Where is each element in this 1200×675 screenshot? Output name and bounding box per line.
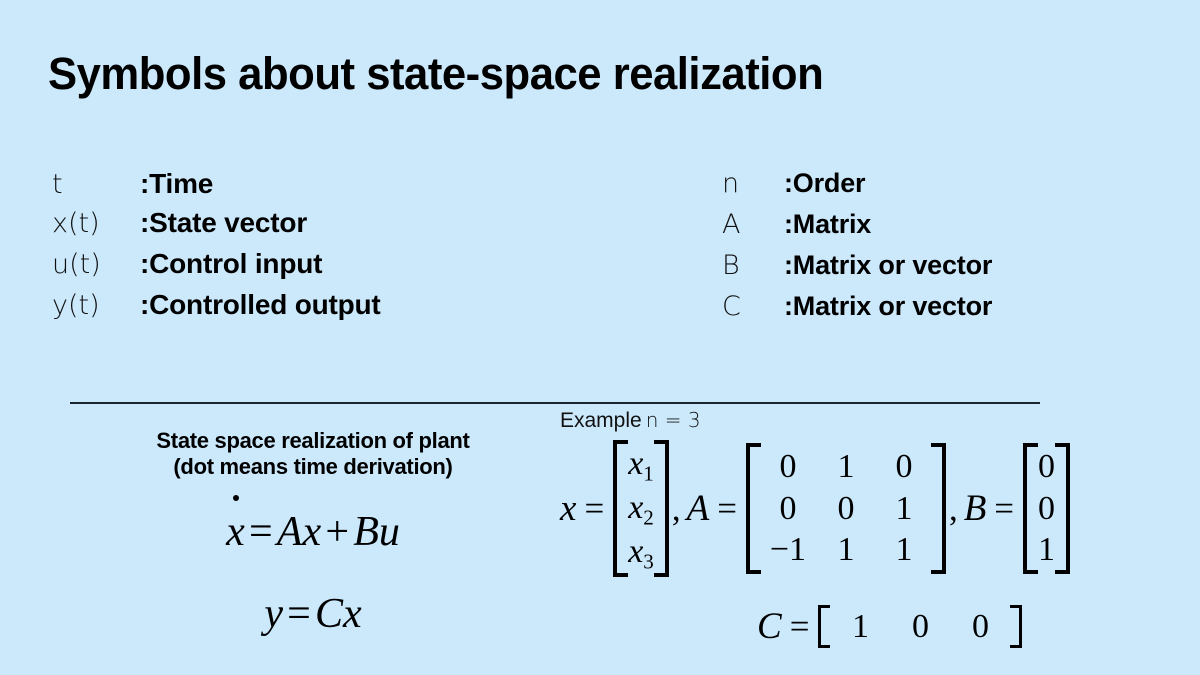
symbol-B-description: :Matrix or vector: [784, 250, 992, 281]
A-matrix-cell: −1: [759, 529, 817, 570]
symbol-u-description: :Control input: [140, 248, 322, 280]
symbol-y-description: :Controlled output: [140, 289, 381, 321]
x-dot-variable: x: [226, 508, 245, 556]
plant-caption-line1: State space realization of plant: [58, 428, 568, 454]
state-equation-term2: Bu: [353, 509, 400, 555]
A-matrix-cell: 0: [759, 446, 817, 487]
A-matrix-equals: =: [711, 489, 745, 529]
C-matrix-cell: 0: [890, 606, 950, 647]
C-matrix-row: C = 1 0 0: [755, 605, 1023, 648]
B-matrix-equals: =: [988, 489, 1022, 529]
A-matrix-row: 0 0 1: [759, 488, 933, 529]
A-matrix-cell: 1: [817, 446, 875, 487]
legend-row-x: x(t) :State vector: [52, 207, 572, 239]
C-matrix-name: C: [755, 605, 784, 648]
A-matrix-cell: 0: [759, 488, 817, 529]
legend-row-u: u(t) :Control input: [52, 248, 572, 280]
legend-row-A: A :Matrix: [722, 209, 1192, 240]
symbol-A: A: [722, 209, 784, 240]
C-matrix: 1 0 0: [818, 605, 1022, 648]
C-matrix-row-cells: 1 0 0: [830, 606, 1010, 647]
symbol-B: B: [722, 250, 784, 281]
B-matrix-name: B: [962, 487, 989, 530]
symbol-C: C: [722, 291, 784, 322]
C-matrix-equals: =: [784, 607, 818, 647]
plant-caption-line2: (dot means time derivation): [58, 454, 568, 480]
state-equation: x=Ax+Bu: [58, 508, 568, 556]
A-matrix-cell: 1: [817, 529, 875, 570]
matrix-separator-2: ,: [947, 489, 962, 529]
C-matrix-cell: 1: [830, 606, 890, 647]
B-matrix-cell: 1: [1036, 529, 1057, 570]
A-matrix-row: −1 1 1: [759, 529, 933, 570]
state-equation-lhs: x: [226, 509, 245, 555]
page-title: Symbols about state-space realization: [48, 48, 823, 100]
symbol-t-description: :Time: [140, 168, 213, 200]
legend-row-C: C :Matrix or vector: [722, 291, 1192, 322]
symbol-legend: t :Time x(t) :State vector u(t) :Control…: [0, 168, 1200, 378]
state-equation-term1: Ax: [277, 509, 321, 555]
B-matrix-cell: 0: [1036, 446, 1057, 487]
state-equation-equals: =: [245, 509, 277, 555]
A-matrix-cell: 1: [875, 529, 933, 570]
symbol-x-description: :State vector: [140, 207, 307, 239]
C-matrix-cell: 0: [950, 606, 1010, 647]
B-matrix: 0 0 1: [1023, 443, 1070, 573]
example-label-word: Example: [560, 409, 642, 432]
A-matrix-cell: 0: [817, 488, 875, 529]
x-vector-entry-sub: 3: [643, 549, 654, 573]
time-derivative-dot-icon: [233, 495, 239, 501]
A-matrix: 0 1 0 0 0 1 −1 1 1: [746, 443, 946, 573]
legend-row-y: y(t) :Controlled output: [52, 289, 572, 321]
symbol-n-description: :Order: [784, 168, 865, 199]
output-equation-rhs: Cx: [315, 591, 362, 637]
example-matrices-row: x = x1 x2 x3 , A = 0 1 0 0 0 1: [558, 440, 1071, 577]
symbol-t: t: [52, 169, 140, 200]
plant-caption: State space realization of plant (dot me…: [58, 428, 568, 480]
legend-right-column: n :Order A :Matrix B :Matrix or vector C…: [722, 168, 1192, 332]
x-vector-matrix: x1 x2 x3: [613, 440, 669, 577]
A-matrix-name: A: [685, 487, 712, 530]
legend-row-n: n :Order: [722, 168, 1192, 199]
output-equation-equals: =: [283, 591, 315, 637]
output-equation: y=Cx: [58, 590, 568, 638]
A-matrix-cell: 0: [875, 446, 933, 487]
symbol-u-of-t: u(t): [52, 249, 140, 280]
legend-row-B: B :Matrix or vector: [722, 250, 1192, 281]
legend-row-t: t :Time: [52, 168, 572, 200]
A-matrix-cell: 1: [875, 488, 933, 529]
legend-left-column: t :Time x(t) :State vector u(t) :Control…: [52, 168, 572, 330]
symbol-y-of-t: y(t): [52, 290, 140, 321]
slide-canvas: Symbols about state-space realization t …: [0, 0, 1200, 675]
x-vector-name: x: [558, 487, 578, 530]
B-matrix-cell: 0: [1036, 488, 1057, 529]
output-equation-lhs: y: [264, 591, 283, 637]
x-vector-entry-sub: 2: [643, 505, 654, 529]
example-order-value: n = 3: [646, 408, 701, 432]
symbol-x-of-t: x(t): [52, 208, 140, 239]
x-vector-entry-sub: 1: [643, 461, 654, 485]
x-vector-entry-base: x: [628, 489, 643, 526]
A-matrix-row: 0 1 0: [759, 446, 933, 487]
x-vector-entry-base: x: [628, 533, 643, 570]
example-label: Examplen = 3: [560, 408, 701, 433]
matrix-separator-1: ,: [670, 489, 685, 529]
state-equation-operator: +: [321, 509, 353, 555]
symbol-C-description: :Matrix or vector: [784, 291, 992, 322]
section-divider: [70, 402, 1040, 404]
x-vector-entry-base: x: [628, 445, 643, 482]
x-vector-equals: =: [578, 489, 612, 529]
symbol-n: n: [722, 168, 784, 199]
symbol-A-description: :Matrix: [784, 209, 871, 240]
